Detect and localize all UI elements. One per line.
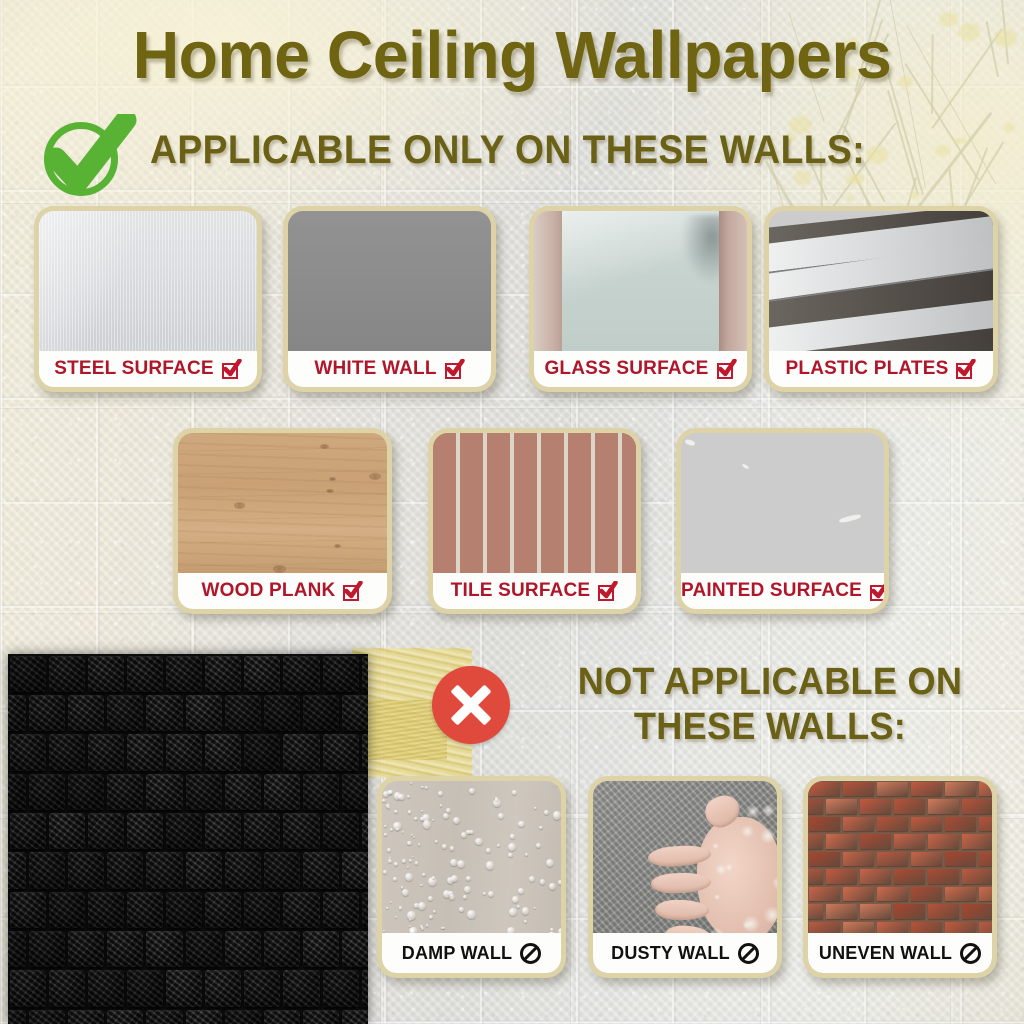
wall-type-card[interactable]: DUSTY WALL: [588, 776, 782, 978]
wall-type-label: PLASTIC PLATES: [786, 358, 949, 380]
wall-type-photo: PAINTED SURFACE: [681, 433, 884, 609]
wall-type-label: DUSTY WALL: [611, 943, 730, 964]
wall-type-card[interactable]: PLASTIC PLATES: [764, 206, 998, 392]
not-applicable-heading-line2: THESE WALLS:: [552, 705, 989, 750]
wall-type-card[interactable]: PAINTED SURFACE: [676, 428, 889, 614]
red-checkbox-tick-icon: [445, 359, 465, 379]
applicable-heading: APPLICABLE ONLY ON THESE WALLS:: [150, 128, 865, 173]
wall-type-label: PAINTED SURFACE: [681, 580, 862, 602]
wall-type-label-strip: UNEVEN WALL: [808, 933, 992, 973]
wall-type-photo: GLASS SURFACE: [534, 211, 747, 387]
prohibition-icon: [960, 943, 981, 964]
wall-type-label: TILE SURFACE: [451, 580, 591, 602]
wall-type-label-strip: DAMP WALL: [382, 933, 561, 973]
wall-type-photo: DAMP WALL: [382, 781, 561, 973]
wall-type-photo: WHITE WALL: [288, 211, 491, 387]
black-3d-brick-wallpaper-panel: [8, 654, 368, 1024]
red-checkbox-tick-icon: [598, 581, 618, 601]
wall-type-label: WHITE WALL: [314, 358, 436, 380]
wall-type-photo: DUSTY WALL: [593, 781, 777, 973]
wall-type-label: UNEVEN WALL: [819, 943, 952, 964]
wall-type-label-strip: GLASS SURFACE: [534, 351, 747, 387]
wall-type-card[interactable]: WOOD PLANK: [173, 428, 392, 614]
wall-type-label-strip: WHITE WALL: [288, 351, 491, 387]
green-check-circle-icon: [38, 114, 138, 200]
wall-type-card[interactable]: DAMP WALL: [377, 776, 566, 978]
wall-type-card[interactable]: GLASS SURFACE: [529, 206, 752, 392]
wall-type-label: WOOD PLANK: [202, 580, 336, 602]
wall-type-card[interactable]: WHITE WALL: [283, 206, 496, 392]
wall-type-label: GLASS SURFACE: [544, 358, 708, 380]
prohibition-icon: [738, 943, 759, 964]
wall-type-label-strip: DUSTY WALL: [593, 933, 777, 973]
red-checkbox-tick-icon: [717, 359, 737, 379]
wall-type-photo: TILE SURFACE: [433, 433, 636, 609]
wall-type-label-strip: WOOD PLANK: [178, 573, 387, 609]
wall-type-card[interactable]: UNEVEN WALL: [803, 776, 997, 978]
wall-type-label-strip: PLASTIC PLATES: [769, 351, 993, 387]
wall-type-label-strip: TILE SURFACE: [433, 573, 636, 609]
not-applicable-heading-line1: NOT APPLICABLE ON: [578, 661, 963, 703]
red-checkbox-tick-icon: [222, 359, 242, 379]
wall-type-card[interactable]: STEEL SURFACE: [34, 206, 262, 392]
wall-type-label-strip: STEEL SURFACE: [39, 351, 257, 387]
prohibition-icon: [520, 943, 541, 964]
wall-type-photo: UNEVEN WALL: [808, 781, 992, 973]
wall-type-label: STEEL SURFACE: [54, 358, 214, 380]
red-x-circle-icon: [432, 666, 510, 744]
wall-type-label-strip: PAINTED SURFACE: [681, 573, 884, 609]
red-checkbox-tick-icon: [343, 581, 363, 601]
wall-type-photo: PLASTIC PLATES: [769, 211, 993, 387]
page-title: Home Ceiling Wallpapers: [20, 22, 1003, 89]
red-checkbox-tick-icon: [870, 581, 884, 601]
wall-type-photo: WOOD PLANK: [178, 433, 387, 609]
wall-type-card[interactable]: TILE SURFACE: [428, 428, 641, 614]
not-applicable-heading: NOT APPLICABLE ON THESE WALLS:: [552, 660, 989, 750]
red-checkbox-tick-icon: [956, 359, 976, 379]
wall-type-photo: STEEL SURFACE: [39, 211, 257, 387]
wall-type-label: DAMP WALL: [402, 943, 512, 964]
